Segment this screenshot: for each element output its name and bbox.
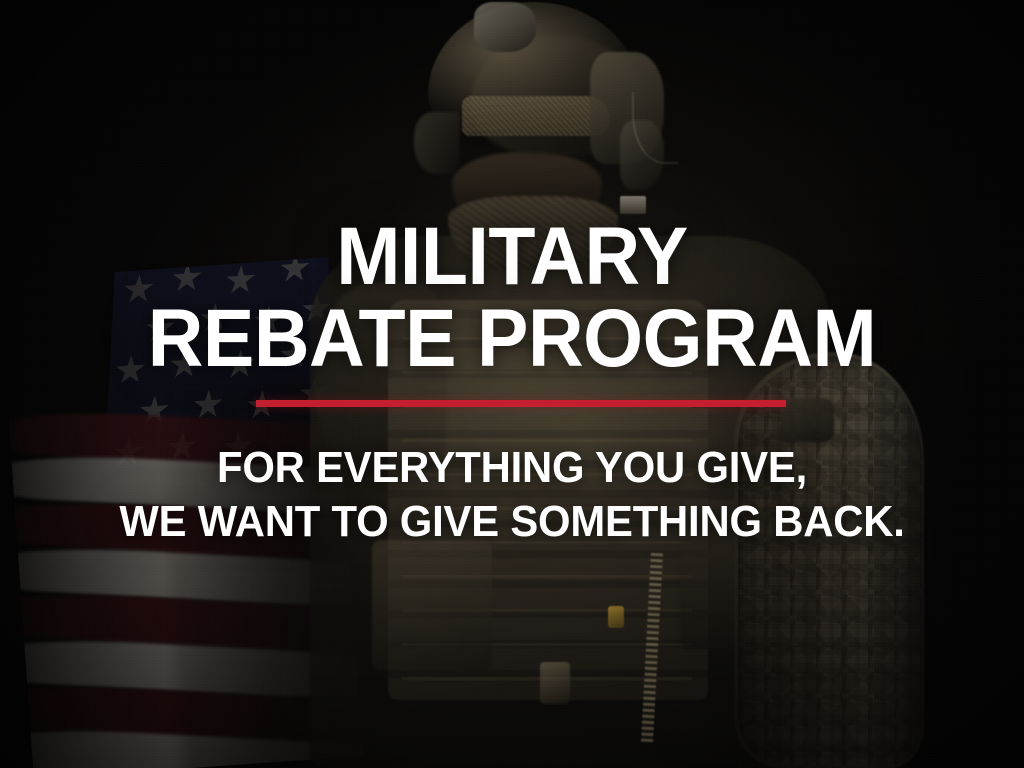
text-overlay: MILITARY REBATE PROGRAM FOR EVERYTHING Y… bbox=[0, 0, 1024, 768]
headline-line-2: REBATE PROGRAM bbox=[31, 300, 994, 379]
military-rebate-poster: MILITARY REBATE PROGRAM FOR EVERYTHING Y… bbox=[0, 0, 1024, 768]
subhead-line-2: WE WANT TO GIVE SOMETHING BACK. bbox=[26, 500, 999, 544]
red-divider-rule bbox=[256, 400, 786, 407]
headline-line-1: MILITARY bbox=[31, 218, 994, 297]
subhead-line-1: FOR EVERYTHING YOU GIVE, bbox=[26, 446, 999, 490]
